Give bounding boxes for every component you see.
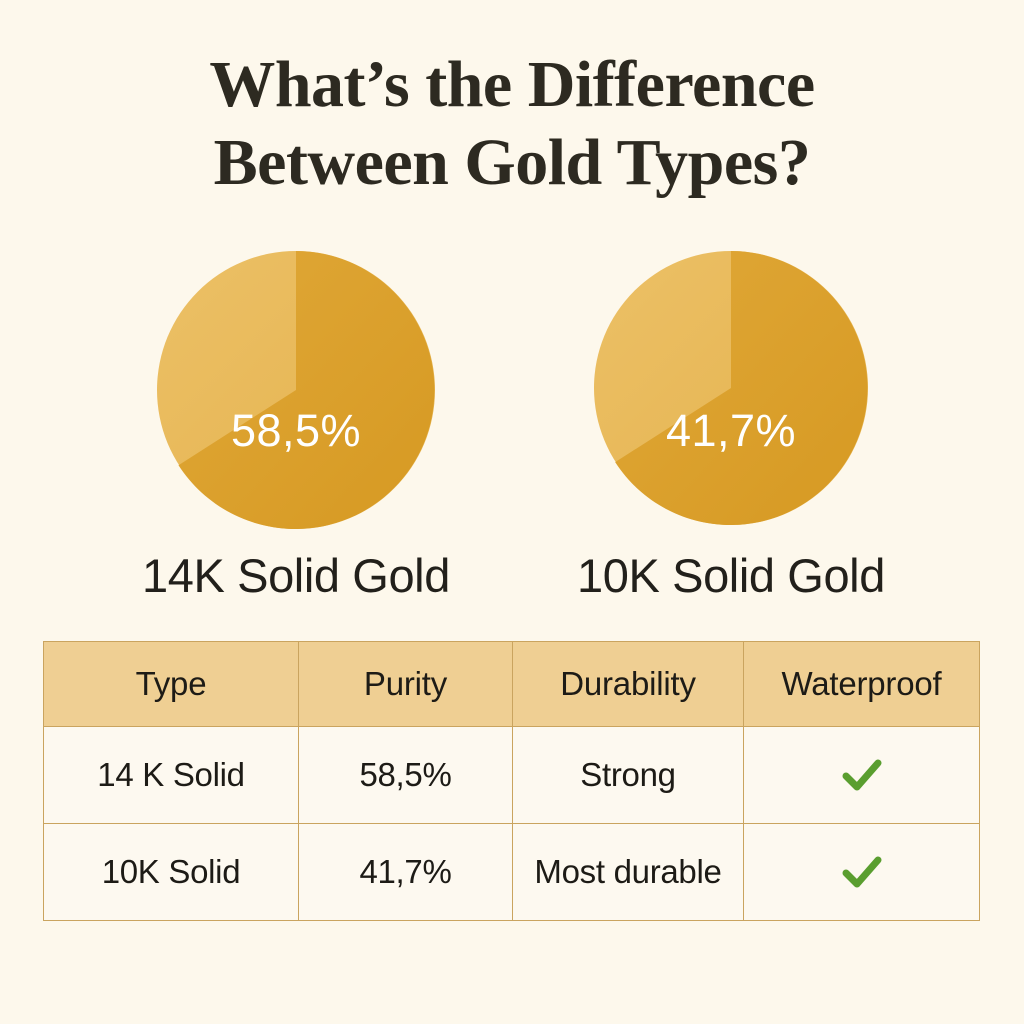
- cell-durability-14k: Strong: [513, 727, 744, 824]
- table-row: 10K Solid 41,7% Most durable: [44, 824, 980, 921]
- table-header-row: Type Purity Durability Waterproof: [44, 642, 980, 727]
- check-icon: [839, 752, 885, 798]
- pie-chart-icon: [156, 250, 436, 530]
- page-title: What’s the Difference Between Gold Types…: [0, 46, 1024, 202]
- column-header-type: Type: [44, 642, 299, 727]
- cell-purity-14k: 58,5%: [299, 727, 513, 824]
- cell-type-14k: 14 K Solid: [44, 727, 299, 824]
- pie-chart-icon: [593, 250, 869, 526]
- cell-waterproof-10k: [744, 824, 980, 921]
- cell-purity-10k: 41,7%: [299, 824, 513, 921]
- pie-chart-14k-graphic: 58,5%: [110, 250, 482, 534]
- pie-chart-14k-caption: 14K Solid Gold: [110, 548, 482, 603]
- table-row: 14 K Solid 58,5% Strong: [44, 727, 980, 824]
- pie-chart-10k-graphic: 41,7%: [545, 250, 917, 534]
- pie-charts-section: 58,5% 14K Solid Gold: [0, 250, 1024, 610]
- title-line-1: What’s the Difference: [0, 46, 1024, 124]
- column-header-durability: Durability: [513, 642, 744, 727]
- title-line-2: Between Gold Types?: [0, 124, 1024, 202]
- column-header-purity: Purity: [299, 642, 513, 727]
- pie-chart-10k-value: 41,7%: [545, 405, 917, 457]
- cell-waterproof-14k: [744, 727, 980, 824]
- check-icon: [839, 849, 885, 895]
- pie-chart-14k-value: 58,5%: [110, 405, 482, 457]
- infographic-canvas: What’s the Difference Between Gold Types…: [0, 0, 1024, 1024]
- gold-comparison-table: Type Purity Durability Waterproof 14 K S…: [43, 641, 980, 921]
- pie-chart-10k: 41,7% 10K Solid Gold: [545, 250, 917, 603]
- cell-durability-10k: Most durable: [513, 824, 744, 921]
- pie-chart-10k-caption: 10K Solid Gold: [545, 548, 917, 603]
- column-header-waterproof: Waterproof: [744, 642, 980, 727]
- cell-type-10k: 10K Solid: [44, 824, 299, 921]
- pie-chart-14k: 58,5% 14K Solid Gold: [110, 250, 482, 603]
